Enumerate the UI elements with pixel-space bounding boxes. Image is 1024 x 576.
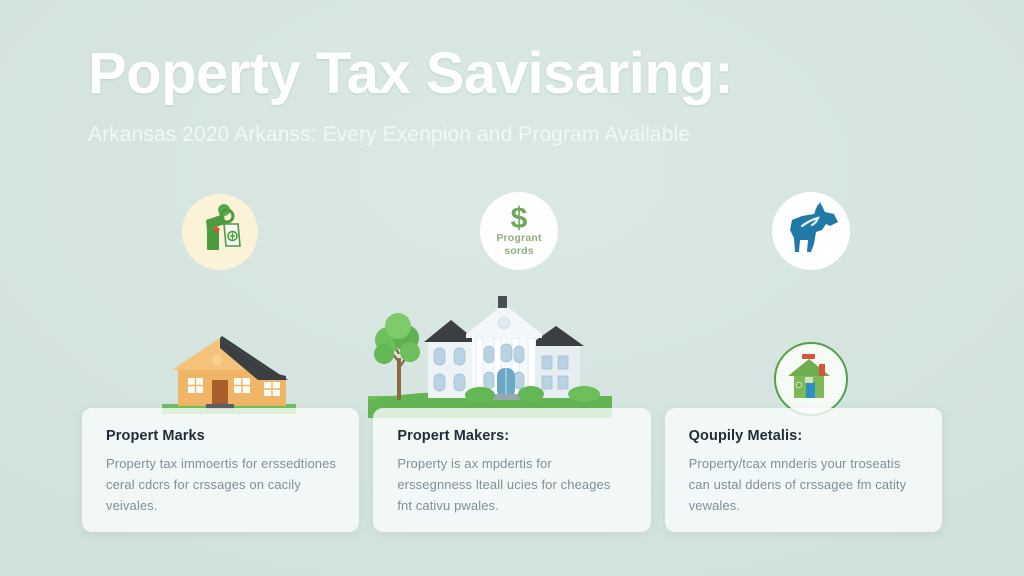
info-card-row: Propert Marks Property tax immoertis for… <box>82 408 942 532</box>
info-card: Propert Marks Property tax immoertis for… <box>82 408 359 532</box>
dollar-sign-icon: $ <box>511 202 528 236</box>
program-funds-label-line1: Progrant <box>480 232 558 245</box>
horse-icon <box>780 200 842 263</box>
header-block: Poperty Tax Savisaring: Arkansas 2020 Ar… <box>88 44 968 147</box>
tree-shape <box>374 313 420 400</box>
homestead-badge <box>774 342 848 416</box>
money-tag-icon <box>194 204 246 261</box>
card-title: Qoupily Metalis: <box>689 428 920 444</box>
livestock-badge <box>772 192 850 270</box>
page-title: Poperty Tax Savisaring: <box>88 44 968 105</box>
mansion-illustration <box>368 296 612 423</box>
infographic-canvas: Poperty Tax Savisaring: Arkansas 2020 Ar… <box>0 0 1024 576</box>
card-body: Property tax immoertis for erssedtiones … <box>106 453 337 516</box>
info-card: Qoupily Metalis: Property/tcax mnderis y… <box>665 408 942 532</box>
card-body: Property is ax mpdertis for erssegnness … <box>397 453 628 516</box>
tax-savings-tag-badge <box>182 194 258 270</box>
page-subtitle: Arkansas 2020 Arkanss: Every Exenpion an… <box>88 123 968 147</box>
green-house-icon <box>784 352 838 407</box>
small-house-illustration <box>162 330 296 419</box>
program-funds-badge: $ Progrant sords <box>480 192 558 270</box>
card-body: Property/tcax mnderis your troseatis can… <box>689 453 920 516</box>
info-card: Propert Makers: Property is ax mpdertis … <box>373 408 650 532</box>
program-funds-label-line2: sords <box>480 245 558 258</box>
card-title: Propert Marks <box>106 428 337 444</box>
card-title: Propert Makers: <box>397 428 628 444</box>
program-funds-label: Progrant sords <box>480 232 558 258</box>
